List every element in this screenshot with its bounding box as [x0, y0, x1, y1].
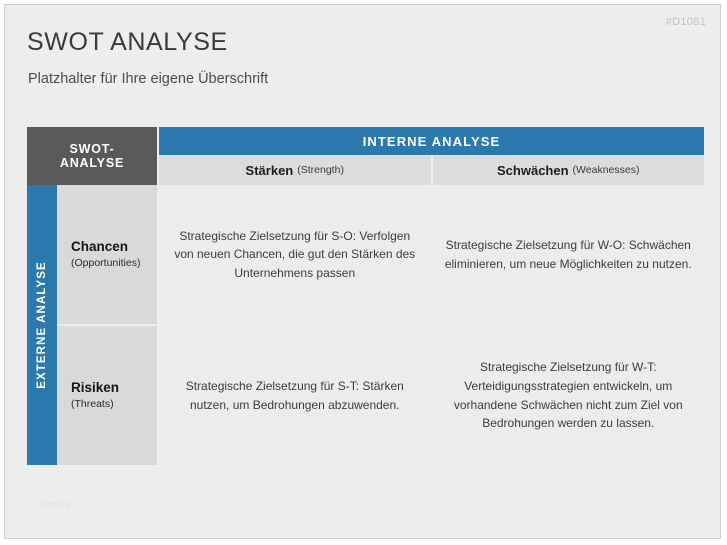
column-header-weaknesses-paren: (Weaknesses)	[573, 164, 640, 176]
column-header-strengths: Stärken (Strength)	[157, 155, 431, 185]
swot-matrix: SWOT- ANALYSE INTERNE ANALYSE Stärken (S…	[27, 127, 704, 465]
cell-strengths-threats-text: Strategische Zielsetzung für S-T: Stärke…	[171, 377, 419, 414]
column-header-weaknesses-label: Schwächen	[497, 163, 569, 178]
matrix-row-opportunities: Chancen (Opportunities) Strategische Zie…	[57, 185, 704, 326]
page-title: SWOT ANALYSE	[27, 28, 228, 57]
matrix-body: EXTERNE ANALYSE Chancen (Opportunities) …	[27, 185, 704, 465]
corner-label-line2: ANALYSE	[60, 156, 124, 170]
cell-weaknesses-threats[interactable]: Strategische Zielsetzung für W-T: Vertei…	[431, 326, 705, 465]
row-header-opportunities-paren: (Opportunities)	[71, 257, 157, 271]
column-header-strengths-paren: (Strength)	[297, 164, 344, 176]
cell-strengths-opportunities[interactable]: Strategische Zielsetzung für S-O: Verfol…	[157, 185, 431, 324]
cell-weaknesses-opportunities[interactable]: Strategische Zielsetzung für W-O: Schwäc…	[431, 185, 705, 324]
external-analysis-strip: EXTERNE ANALYSE	[27, 185, 57, 465]
page-subtitle: Platzhalter für Ihre eigene Überschrift	[28, 71, 268, 87]
corner-label-line1: SWOT-	[70, 142, 115, 156]
cell-weaknesses-threats-text: Strategische Zielsetzung für W-T: Vertei…	[445, 358, 693, 432]
slide-canvas: #D1081 SWOT ANALYSE Platzhalter für Ihre…	[4, 4, 721, 539]
matrix-row-threats: Risiken (Threats) Strategische Zielsetzu…	[57, 326, 704, 465]
row-header-opportunities-label: Chancen	[71, 239, 157, 256]
document-code: #D1081	[666, 16, 706, 28]
matrix-corner-cell: SWOT- ANALYSE	[27, 127, 157, 185]
cell-strengths-opportunities-text: Strategische Zielsetzung für S-O: Verfol…	[171, 227, 419, 283]
cell-weaknesses-opportunities-text: Strategische Zielsetzung für W-O: Schwäc…	[445, 236, 693, 273]
row-header-threats-label: Risiken	[71, 380, 157, 397]
row-header-threats-paren: (Threats)	[71, 398, 157, 412]
footer-watermark: kostis	[41, 496, 81, 512]
column-header-strengths-label: Stärken	[246, 163, 294, 178]
cell-strengths-threats[interactable]: Strategische Zielsetzung für S-T: Stärke…	[157, 326, 431, 465]
column-header-weaknesses: Schwächen (Weaknesses)	[431, 155, 705, 185]
matrix-header-row: SWOT- ANALYSE INTERNE ANALYSE	[27, 127, 704, 155]
internal-analysis-banner: INTERNE ANALYSE	[157, 127, 704, 155]
row-header-opportunities: Chancen (Opportunities)	[57, 185, 157, 324]
row-header-threats: Risiken (Threats)	[57, 326, 157, 465]
external-analysis-label: EXTERNE ANALYSE	[27, 185, 57, 465]
